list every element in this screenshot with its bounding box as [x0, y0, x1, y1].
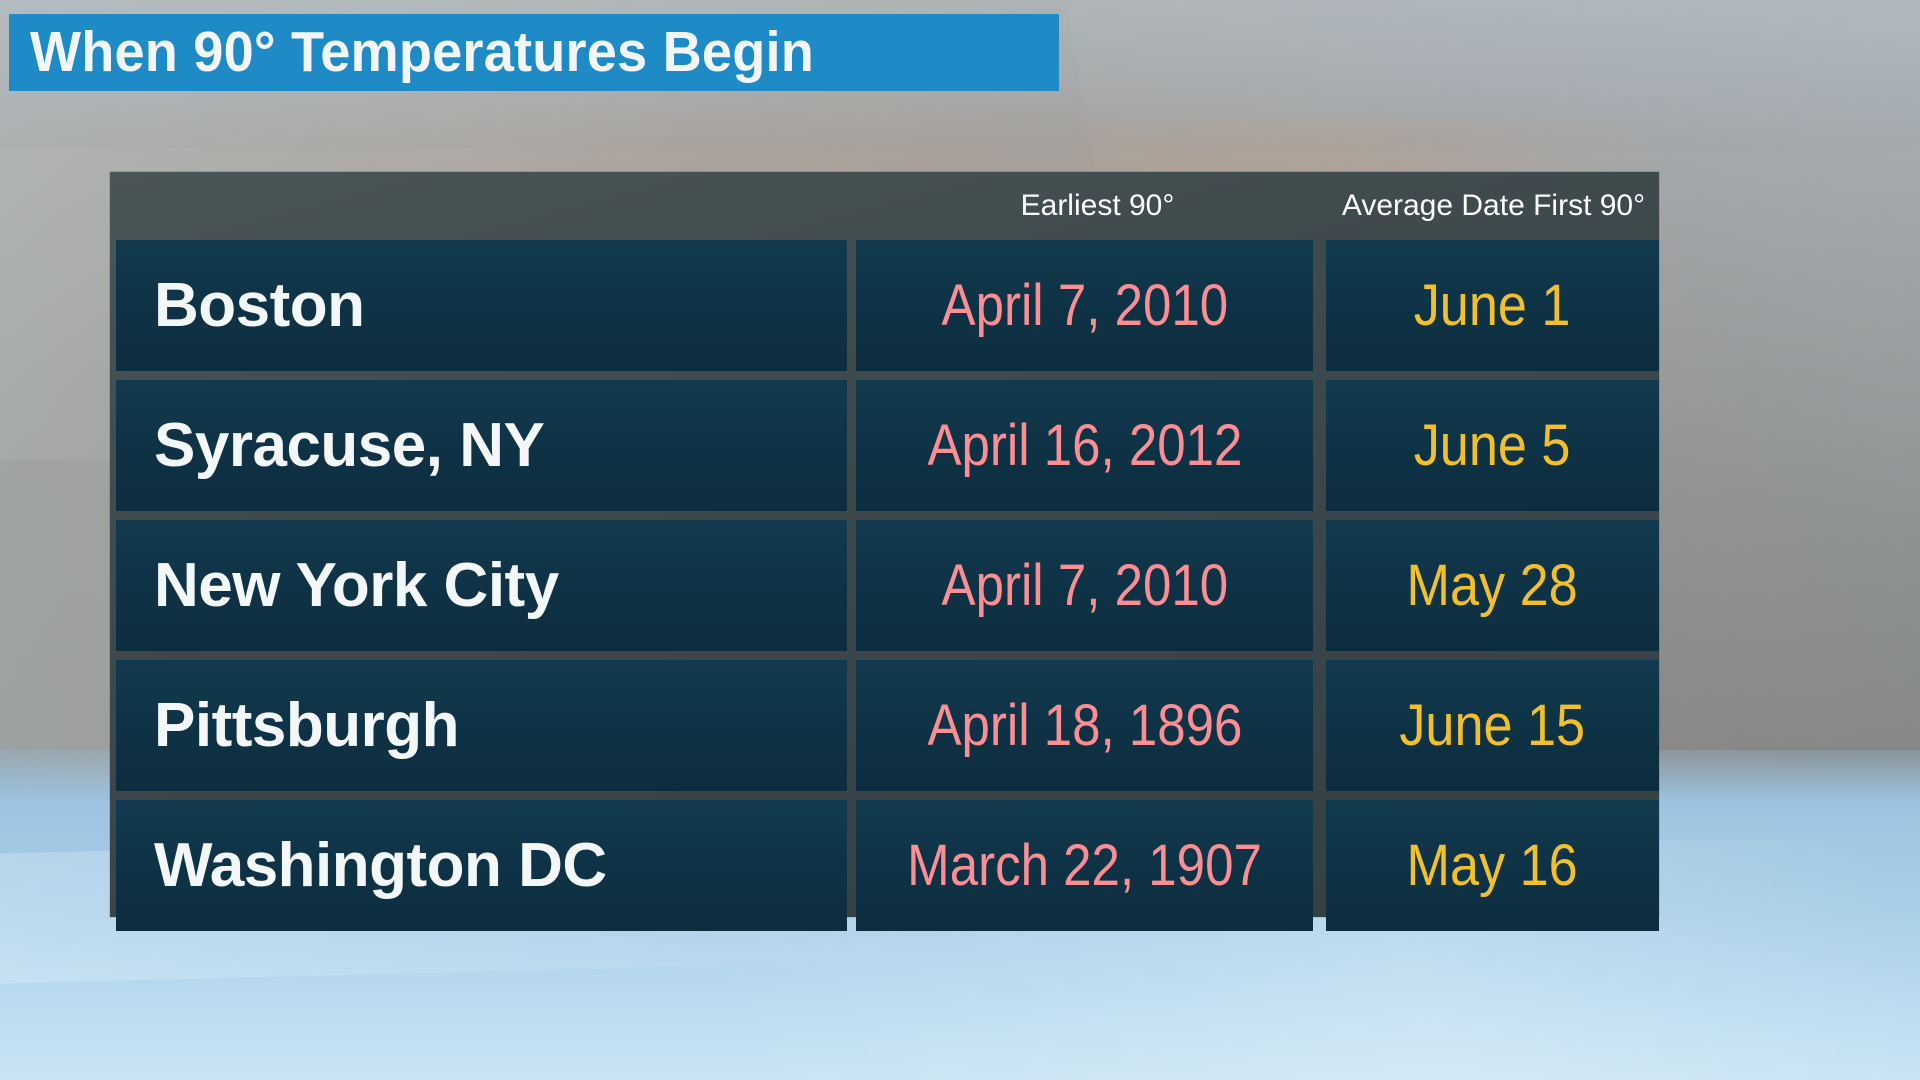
cell-earliest: April 7, 2010 — [856, 240, 1312, 371]
average-value: June 5 — [1414, 417, 1571, 475]
cell-city: Pittsburgh — [116, 660, 847, 791]
cell-average: June 5 — [1326, 380, 1659, 511]
data-panel: Earliest 90° Average Date First 90° Bost… — [110, 172, 1659, 917]
earliest-value: April 7, 2010 — [941, 557, 1228, 615]
cell-city: New York City — [116, 520, 847, 651]
city-label: Washington DC — [154, 835, 607, 897]
average-value: May 16 — [1407, 837, 1578, 895]
column-header-earliest: Earliest 90° — [867, 182, 1328, 230]
city-label: Pittsburgh — [154, 695, 459, 757]
column-header-city — [110, 182, 867, 230]
cell-average: June 15 — [1326, 660, 1659, 791]
table-row: Syracuse, NY April 16, 2012 June 5 — [116, 380, 1659, 511]
cell-average: May 28 — [1326, 520, 1659, 651]
data-panel-inner: Earliest 90° Average Date First 90° Bost… — [110, 172, 1659, 917]
cell-city: Boston — [116, 240, 847, 371]
city-label: New York City — [154, 555, 559, 617]
title-banner: When 90° Temperatures Begin — [9, 14, 1059, 91]
city-label: Boston — [154, 275, 365, 337]
column-header-average: Average Date First 90° — [1328, 182, 1659, 230]
average-value: June 15 — [1399, 697, 1585, 755]
page-title: When 90° Temperatures Begin — [9, 24, 814, 81]
cell-earliest: April 7, 2010 — [856, 520, 1312, 651]
earliest-value: April 7, 2010 — [941, 277, 1228, 335]
cell-average: June 1 — [1326, 240, 1659, 371]
cell-city: Washington DC — [116, 800, 847, 931]
average-value: May 28 — [1407, 557, 1578, 615]
table-body: Boston April 7, 2010 June 1 Syracuse, NY… — [116, 240, 1659, 940]
earliest-value: April 18, 1896 — [927, 697, 1242, 755]
cell-earliest: April 18, 1896 — [856, 660, 1312, 791]
cell-earliest: March 22, 1907 — [856, 800, 1312, 931]
cell-average: May 16 — [1326, 800, 1659, 931]
cell-city: Syracuse, NY — [116, 380, 847, 511]
table-header-row: Earliest 90° Average Date First 90° — [110, 182, 1659, 230]
average-value: June 1 — [1414, 277, 1571, 335]
table-row: Pittsburgh April 18, 1896 June 15 — [116, 660, 1659, 791]
table-row: New York City April 7, 2010 May 28 — [116, 520, 1659, 651]
city-label: Syracuse, NY — [154, 415, 544, 477]
earliest-value: April 16, 2012 — [927, 417, 1242, 475]
cell-earliest: April 16, 2012 — [856, 380, 1312, 511]
table-row: Boston April 7, 2010 June 1 — [116, 240, 1659, 371]
table-row: Washington DC March 22, 1907 May 16 — [116, 800, 1659, 931]
earliest-value: March 22, 1907 — [907, 837, 1262, 895]
